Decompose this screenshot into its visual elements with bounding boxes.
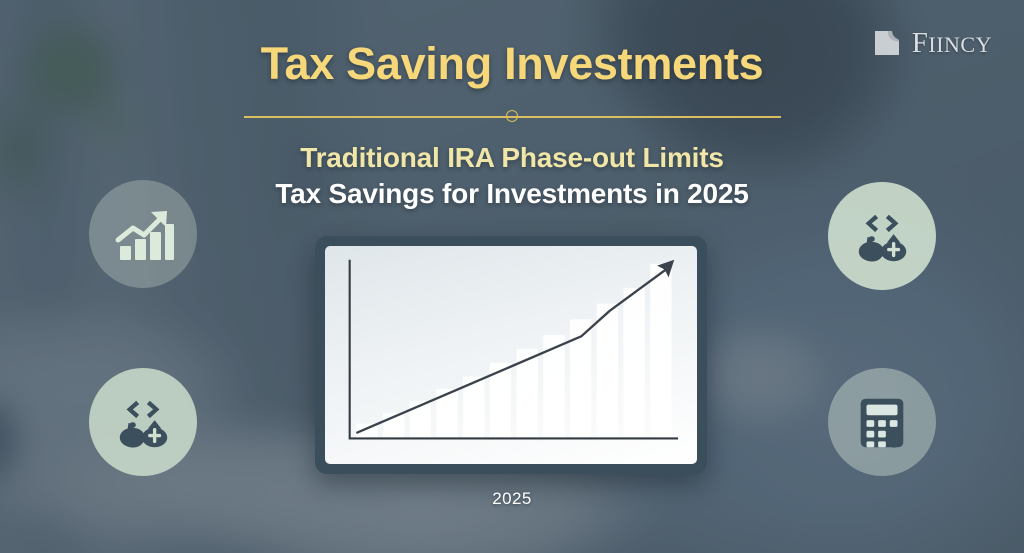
page-title: Tax Saving Investments <box>0 40 1024 87</box>
chart-panel <box>325 246 697 464</box>
money-exchange-icon <box>851 205 913 267</box>
chart-caption: 2025 <box>0 489 1024 509</box>
money-exchange-icon <box>112 391 174 453</box>
badge-calculator <box>828 368 936 476</box>
bar-chart-growth-icon <box>111 202 175 266</box>
chart-bar <box>597 304 618 438</box>
chart-trend-line <box>357 268 668 433</box>
tax-saving-investments-banner: FIINCY Tax Saving Investments Traditiona… <box>0 0 1024 553</box>
circle-divider-icon <box>506 110 518 122</box>
chart-bars <box>356 264 671 438</box>
badge-money-exchange-right <box>828 182 936 290</box>
badge-money-exchange-left <box>89 368 197 476</box>
title-divider <box>244 110 781 124</box>
badge-growth-chart <box>89 180 197 288</box>
growth-bar-chart <box>325 246 697 464</box>
chart-bar <box>650 264 671 438</box>
subtitle-line-1: Traditional IRA Phase-out Limits <box>0 142 1024 174</box>
chart-card <box>315 236 707 474</box>
calculator-icon <box>851 391 913 453</box>
chart-bar <box>623 288 644 437</box>
